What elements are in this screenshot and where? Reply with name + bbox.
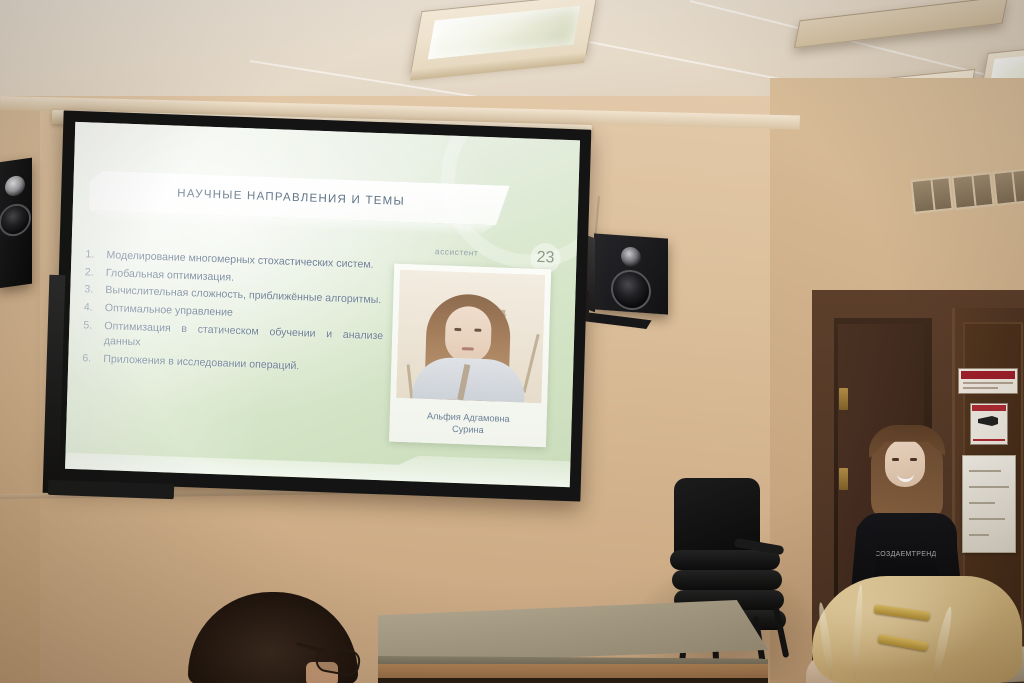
portrait-photo	[396, 270, 545, 403]
portrait-card: Альфия Адгамовна Сурина	[389, 264, 551, 448]
hair	[812, 576, 1022, 683]
speaker-tweeter-icon	[5, 175, 25, 198]
ceiling-light-fixture	[410, 0, 597, 73]
window-mullion	[930, 180, 935, 210]
sticker-header	[972, 405, 1006, 411]
speaker-woofer-icon	[0, 202, 31, 238]
notice-line	[969, 502, 995, 504]
chair-seat	[670, 550, 780, 570]
slide-bullet-list: 1. Моделирование многомерных стохастичес…	[82, 247, 385, 379]
room-plaque	[958, 368, 1018, 394]
face	[885, 439, 925, 487]
transom-window	[951, 172, 994, 210]
speaker-woofer-icon	[611, 269, 651, 312]
door-hinge	[839, 388, 848, 410]
front-desk	[378, 600, 768, 683]
transom-window	[992, 168, 1024, 206]
eye	[454, 328, 461, 331]
cctv-camera-icon	[978, 416, 998, 426]
notice-line	[969, 534, 989, 536]
list-item-number: 2.	[85, 265, 99, 281]
light-panel	[427, 5, 580, 59]
list-item-number: 6.	[82, 351, 96, 367]
smile	[897, 471, 914, 482]
plaque-line	[963, 382, 1013, 384]
list-item-number: 4.	[84, 300, 98, 316]
window-mullion	[971, 176, 976, 206]
portrait-caption: Альфия Адгамовна Сурина	[389, 408, 547, 439]
portrait-face	[444, 306, 492, 364]
plaque-line	[963, 387, 998, 389]
list-item-number: 1.	[85, 247, 99, 263]
notice-line	[969, 486, 1009, 488]
video-surveillance-sticker	[970, 403, 1008, 445]
screen-surface: НАУЧНЫЕ НАПРАВЛЕНИЯ И ТЕМЫ 23 1. Моделир…	[65, 122, 580, 487]
notice-line	[969, 470, 1001, 472]
list-item-number: 5.	[83, 318, 98, 349]
speaker-tweeter-icon	[621, 246, 641, 267]
wall-speaker-left	[0, 158, 32, 289]
plaque-header-bar	[961, 371, 1015, 379]
window-mullion	[1011, 172, 1016, 202]
slide-bottom-band	[65, 443, 570, 487]
projection-screen-assembly: НАУЧНЫЕ НАПРАВЛЕНИЯ И ТЕМЫ 23 1. Моделир…	[34, 110, 580, 500]
door-hinge	[839, 468, 848, 490]
classroom-photo: #СОЗДАЁМТРЕНДЫ НАУЧНЫЕ НАПРАВЛЕНИЯ И ТЕМ…	[0, 0, 1024, 683]
student-foreground-right	[812, 576, 1024, 683]
student-foreground-left	[188, 592, 364, 683]
slide-title: НАУЧНЫЕ НАПРАВЛЕНИЯ И ТЕМЫ	[177, 188, 405, 208]
eye	[474, 329, 481, 332]
paper-notice	[962, 455, 1016, 553]
eye	[892, 458, 899, 461]
chair-seat	[672, 570, 782, 590]
presentation-slide: НАУЧНЫЕ НАПРАВЛЕНИЯ И ТЕМЫ 23 1. Моделир…	[65, 122, 580, 487]
notice-line	[969, 518, 1005, 520]
eye	[910, 458, 917, 461]
list-item-number: 3.	[84, 283, 98, 299]
transom-window	[910, 176, 953, 214]
desk-base-shadow	[378, 678, 768, 683]
mouth	[462, 347, 474, 350]
screen-frame: НАУЧНЫЕ НАПРАВЛЕНИЯ И ТЕМЫ 23 1. Моделир…	[53, 110, 592, 501]
screen-bottom-bar	[48, 480, 174, 499]
desk-surface	[378, 600, 768, 664]
wall-speaker-right	[594, 233, 668, 314]
sticker-caption-bar	[973, 439, 1005, 441]
